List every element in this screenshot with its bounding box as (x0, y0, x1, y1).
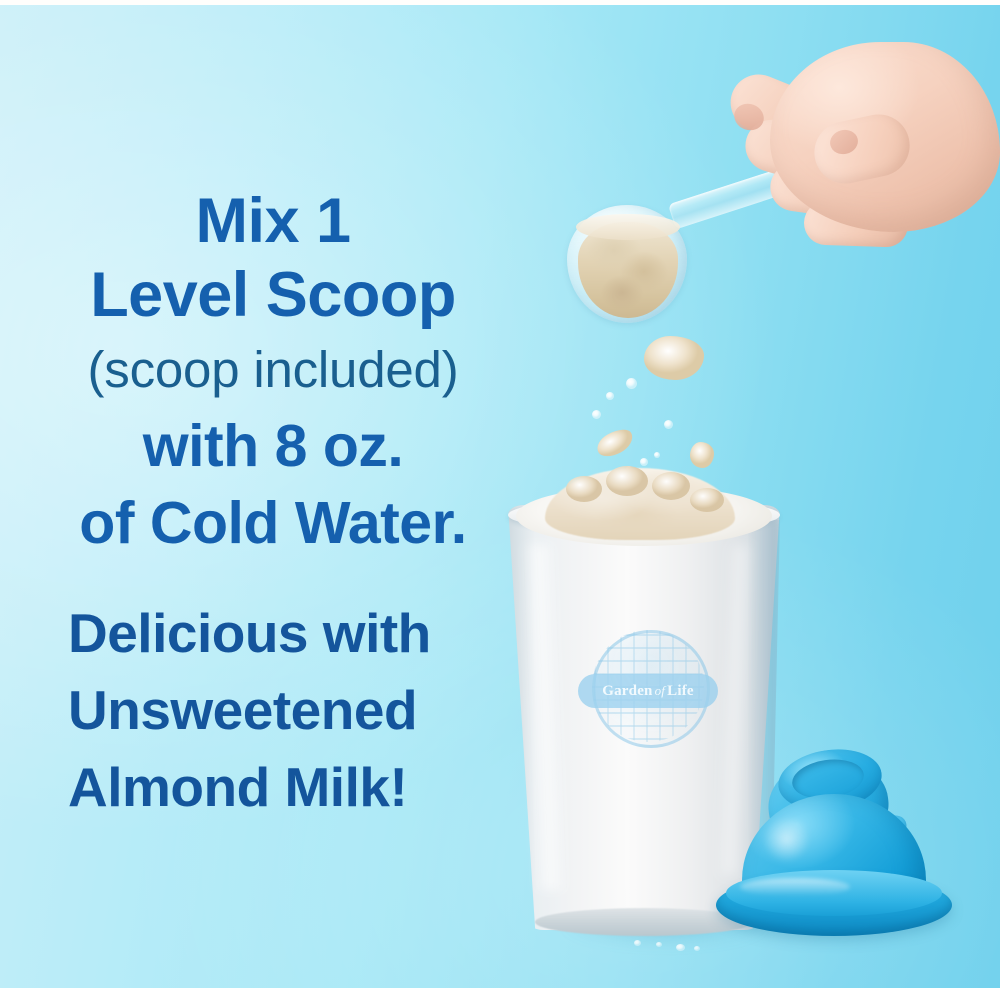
instructions-copy: Mix 1 Level Scoop (scoop included) with … (28, 185, 518, 825)
subhead-line-delicious-with: Delicious with (68, 595, 518, 671)
headline-line-scoop-included: (scoop included) (28, 333, 518, 407)
subhead-line-unsweetened: Unsweetened (68, 671, 518, 749)
bottom-edge-strip (0, 988, 1000, 1000)
top-edge-strip (0, 0, 1000, 5)
banner-canvas: GardenofLife Mix 1 Level Scoop (scoop in… (0, 0, 1000, 1000)
copy-group-secondary: Delicious with Unsweetened Almond Milk! (28, 595, 518, 825)
headline-line-mix: Mix 1 (28, 185, 518, 257)
subhead-line-almond-milk: Almond Milk! (68, 749, 518, 825)
headline-line-level-scoop: Level Scoop (28, 257, 518, 333)
copy-group-primary: Mix 1 Level Scoop (scoop included) with … (28, 185, 518, 561)
headline-line-with-8oz: with 8 oz. (28, 407, 518, 485)
headline-line-cold-water: of Cold Water. (28, 485, 518, 561)
